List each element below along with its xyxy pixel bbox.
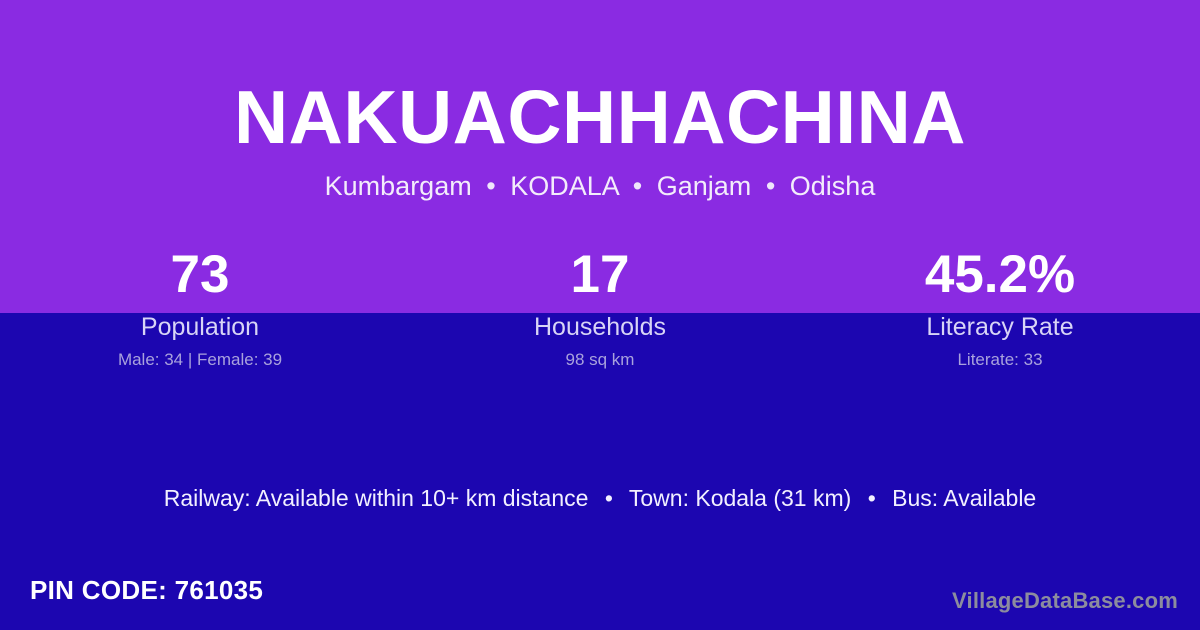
- pin-code: PIN CODE: 761035: [30, 575, 263, 606]
- breadcrumb-separator-3: •: [759, 171, 782, 202]
- stats-row: 73 Population Male: 34 | Female: 39 17 H…: [0, 244, 1200, 370]
- breadcrumb-block: KODALA: [510, 171, 618, 201]
- village-info-card: NAKUACHHACHINA Kumbargam • KODALA • Ganj…: [0, 0, 1200, 630]
- infra-town: Town: Kodala (31 km): [629, 485, 851, 511]
- breadcrumb-panchayat: Kumbargam: [325, 171, 472, 201]
- stat-households-value: 17: [400, 244, 800, 306]
- infra-bus: Bus: Available: [892, 485, 1036, 511]
- stat-population-label: Population: [0, 313, 400, 341]
- header: NAKUACHHACHINA Kumbargam • KODALA • Ganj…: [0, 0, 1200, 202]
- stat-literacy-rate: 45.2% Literacy Rate Literate: 33: [800, 244, 1200, 370]
- stat-population: 73 Population Male: 34 | Female: 39: [0, 244, 400, 370]
- breadcrumb-district: Ganjam: [657, 171, 752, 201]
- stat-households: 17 Households 98 sq km: [400, 244, 800, 370]
- infra-railway: Railway: Available within 10+ km distanc…: [164, 485, 589, 511]
- page-title: NAKUACHHACHINA: [0, 0, 1200, 157]
- stat-literacy-rate-value: 45.2%: [800, 244, 1200, 306]
- breadcrumb-separator-2: •: [626, 171, 649, 202]
- breadcrumb-state: Odisha: [790, 171, 876, 201]
- stat-households-sub: 98 sq km: [400, 350, 800, 370]
- stat-literacy-rate-sub: Literate: 33: [800, 350, 1200, 370]
- breadcrumb: Kumbargam • KODALA • Ganjam • Odisha: [0, 157, 1200, 202]
- infrastructure-line: Railway: Available within 10+ km distanc…: [0, 485, 1200, 512]
- stat-households-label: Households: [400, 313, 800, 341]
- breadcrumb-separator-1: •: [479, 171, 502, 202]
- infra-separator-2: •: [858, 485, 886, 512]
- brand-watermark: VillageDataBase.com: [952, 588, 1178, 614]
- infra-separator-1: •: [595, 485, 623, 512]
- stat-literacy-rate-label: Literacy Rate: [800, 313, 1200, 341]
- stat-population-sub: Male: 34 | Female: 39: [0, 350, 400, 370]
- stat-population-value: 73: [0, 244, 400, 306]
